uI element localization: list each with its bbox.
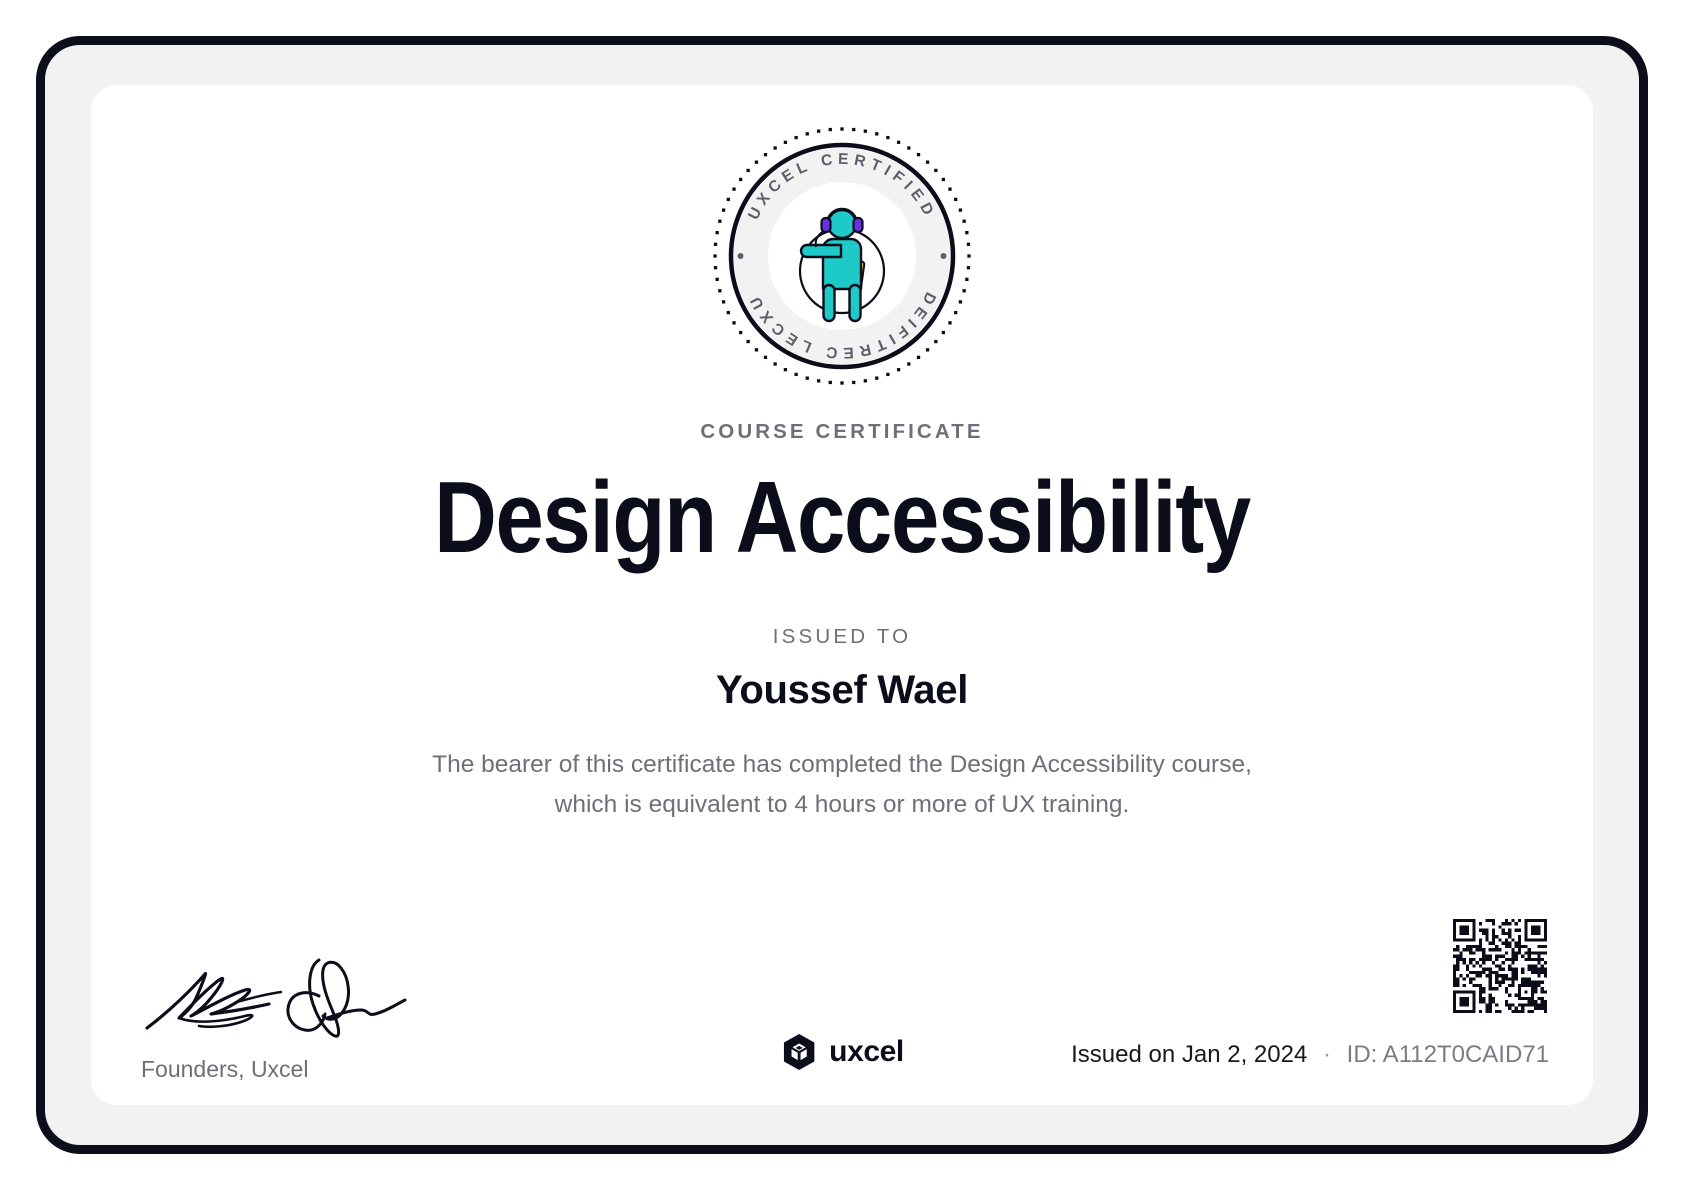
recipient-name: Youssef Wael <box>91 668 1593 713</box>
verification-qr-code[interactable] <box>1453 919 1547 1013</box>
signature-caption: Founders, Uxcel <box>141 1056 553 1083</box>
uxcel-hexagon-cube-icon <box>780 1033 818 1071</box>
certificate-card: UXCEL CERTIFIED DEIFITREC LECXU <box>91 85 1593 1105</box>
certificate-description: The bearer of this certificate has compl… <box>402 745 1282 825</box>
meta-separator: · <box>1314 1041 1340 1068</box>
page-title: Design Accessibility <box>196 465 1488 571</box>
certificate-frame: UXCEL CERTIFIED DEIFITREC LECXU <box>36 36 1648 1154</box>
course-certificate-kicker: COURSE CERTIFICATE <box>91 420 1593 444</box>
certificate-meta: Issued on Jan 2, 2024 · ID: A112T0CAID71 <box>1071 1041 1549 1069</box>
description-line-1: The bearer of this certificate has compl… <box>402 745 1282 785</box>
description-line-2: which is equivalent to 4 hours or more o… <box>402 785 1282 825</box>
badge-bullet-right <box>941 253 947 259</box>
founders-signature-icon <box>141 952 441 1042</box>
signature-block: Founders, Uxcel <box>133 952 553 1083</box>
uxcel-wordmark: uxcel <box>829 1035 904 1069</box>
certificate-id: ID: A112T0CAID71 <box>1347 1041 1549 1068</box>
certificate-footer: Founders, Uxcel uxcel <box>91 890 1593 1105</box>
issued-to-label: ISSUED TO <box>91 625 1593 649</box>
issued-date: Issued on Jan 2, 2024 <box>1071 1041 1307 1068</box>
uxcel-brand-logo: uxcel <box>780 1033 904 1071</box>
uxcel-certified-badge: UXCEL CERTIFIED DEIFITREC LECXU <box>707 121 977 391</box>
badge-bullet-left <box>738 253 744 259</box>
